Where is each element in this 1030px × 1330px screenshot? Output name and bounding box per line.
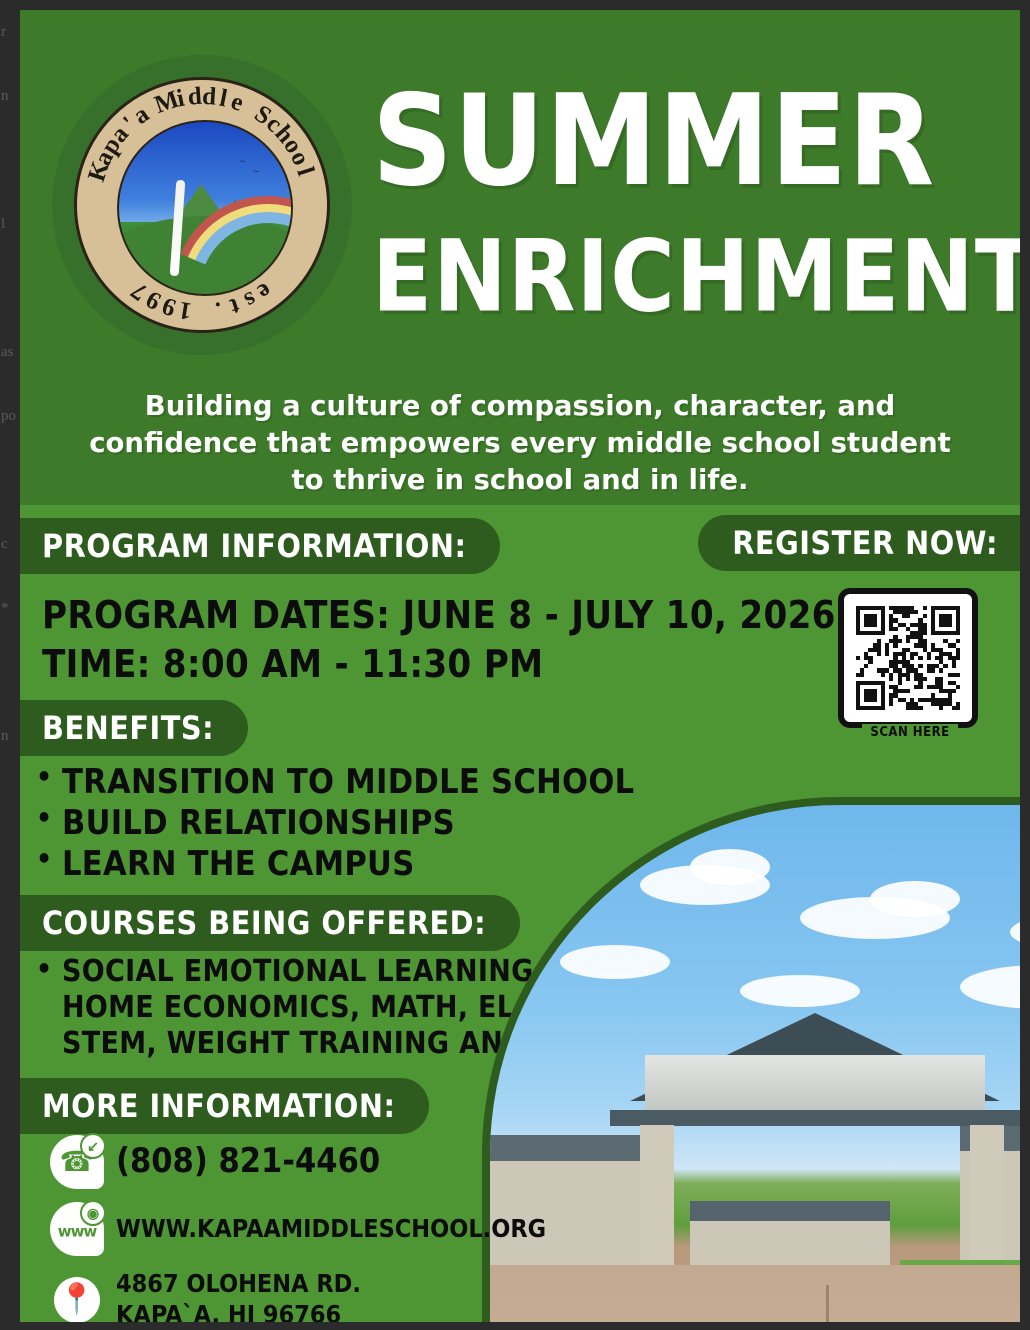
school-seal-icon: Kapa'a Middle School est. 1997 ~ ~ <box>74 77 330 333</box>
www-globe-bubble-icon: www ◉ <box>50 1202 104 1256</box>
location-pin-icon: 📍 <box>54 1277 100 1323</box>
qr-scan-here-label: SCAN HERE <box>862 724 958 742</box>
register-qr-code[interactable]: SCAN HERE <box>838 588 978 738</box>
qr-frame <box>838 588 978 728</box>
seal-scene-icon: ~ ~ <box>117 120 293 296</box>
program-dates: PROGRAM DATES: JUNE 8 - JULY 10, 2026 <box>42 593 836 638</box>
address-line-1: 4867 OLOHENA RD. <box>116 1269 361 1300</box>
course-line-2: HOME ECONOMICS, MATH, ELA, <box>62 990 547 1025</box>
list-item: TRANSITION TO MIDDLE SCHOOL <box>28 762 648 803</box>
contact-list: ☎ ↙ (808) 821-4460 www ◉ WWW.KAPAAMIDDLE… <box>50 1135 546 1322</box>
qr-icon <box>856 606 960 710</box>
contact-phone-row[interactable]: ☎ ↙ (808) 821-4460 <box>50 1135 546 1189</box>
flyer-page: r n l as po c * n Kapa'a Middle School e… <box>0 0 1030 1330</box>
contact-website-row[interactable]: www ◉ WWW.KAPAAMIDDLESCHOOL.ORG <box>50 1202 546 1256</box>
contact-address-row: 📍 4867 OLOHENA RD. KAPA`A, HI 96766 <box>50 1269 546 1322</box>
campus-photo-image <box>490 805 1020 1322</box>
benefits-heading: BENEFITS: <box>20 700 248 756</box>
more-information-heading: MORE INFORMATION: <box>20 1078 429 1134</box>
background-ghost-text: r n l as po c * n <box>0 0 20 1330</box>
title-line-enrichment: ENRICHMENT <box>372 230 1002 324</box>
program-information-heading: PROGRAM INFORMATION: <box>20 518 500 574</box>
website-url: WWW.KAPAAMIDDLESCHOOL.ORG <box>116 1214 546 1245</box>
phone-number: (808) 821-4460 <box>116 1141 380 1182</box>
summer-enrichment-flyer: Kapa'a Middle School est. 1997 ~ ~ SUMME… <box>20 10 1020 1322</box>
page-title: SUMMER ENRICHMENT <box>372 82 1002 314</box>
title-line-summer: SUMMER <box>372 82 1002 201</box>
address-line-2: KAPA`A, HI 96766 <box>116 1300 361 1323</box>
campus-photo <box>490 805 1020 1322</box>
course-line-1: SOCIAL EMOTIONAL LEARNING, <box>62 954 544 989</box>
school-logo: Kapa'a Middle School est. 1997 ~ ~ <box>52 55 352 355</box>
tagline: Building a culture of compassion, charac… <box>80 388 960 499</box>
courses-heading: COURSES BEING OFFERED: <box>20 895 520 951</box>
register-now-heading[interactable]: REGISTER NOW: <box>698 515 1020 571</box>
program-time: TIME: 8:00 AM - 11:30 PM <box>42 642 543 687</box>
phone-bubble-icon: ☎ ↙ <box>50 1135 104 1189</box>
